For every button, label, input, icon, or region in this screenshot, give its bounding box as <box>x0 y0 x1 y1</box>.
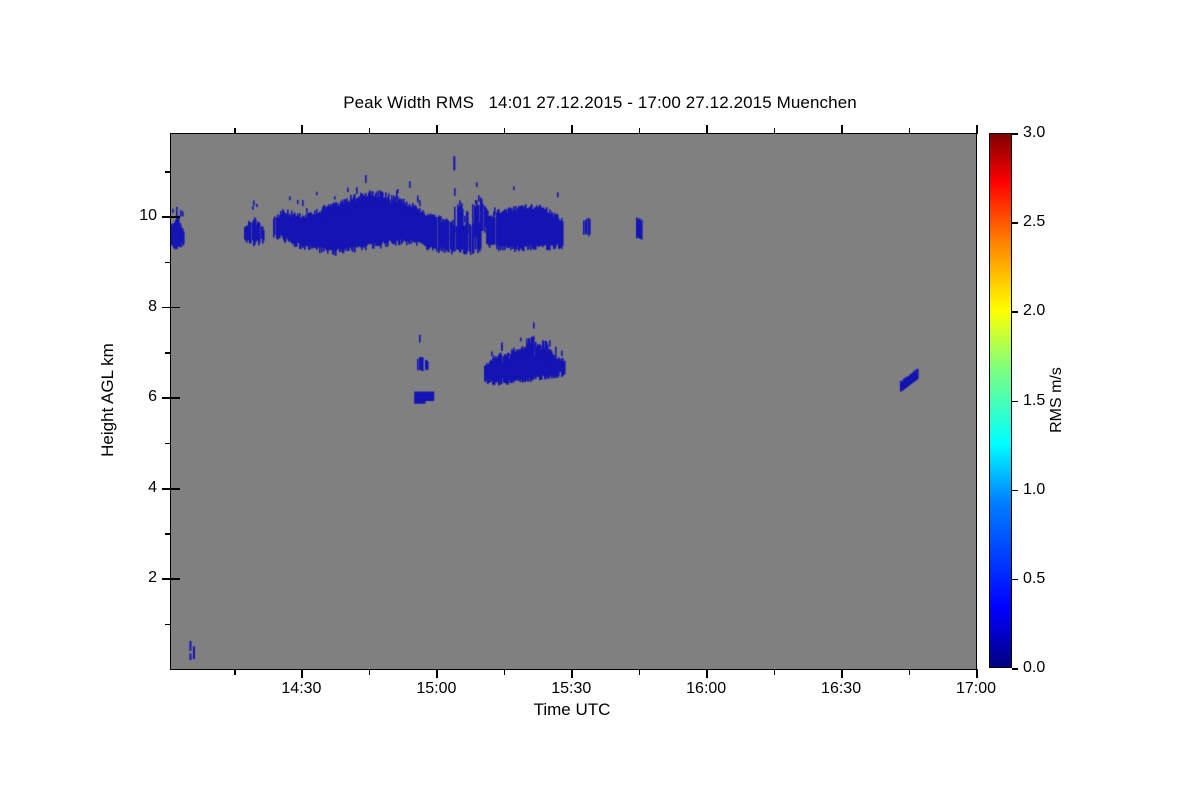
x-tick-minor-top <box>234 128 236 134</box>
colorbar-tick-label: 1.0 <box>1023 481 1045 499</box>
x-tick-minor <box>909 669 911 675</box>
page-title: Peak Width RMS 14:01 27.12.2015 - 17:00 … <box>0 93 1200 113</box>
x-tick-major <box>436 125 438 134</box>
x-tick-label: 17:00 <box>956 680 996 698</box>
colorbar-title: RMS m/s <box>1048 367 1066 433</box>
plot-area: 246810 14:3015:0015:3016:0016:3017:00 <box>170 133 977 670</box>
colorbar-tick-label: 2.0 <box>1023 302 1045 320</box>
y-tick-inner <box>171 578 180 580</box>
y-tick-major <box>162 216 171 218</box>
x-tick-major <box>301 125 303 134</box>
y-tick-minor <box>165 624 171 626</box>
colorbar-tick <box>1012 401 1018 403</box>
y-tick-inner <box>171 216 180 218</box>
y-tick-major <box>162 488 171 490</box>
x-tick-bottom <box>571 669 573 678</box>
x-tick-label: 15:30 <box>551 680 591 698</box>
x-tick-minor <box>504 669 506 675</box>
y-tick-inner <box>171 397 180 399</box>
x-tick-minor-top <box>369 128 371 134</box>
y-tick-inner <box>171 307 180 309</box>
x-tick-label: 15:00 <box>416 680 456 698</box>
x-tick-minor-top <box>504 128 506 134</box>
colorbar-tick <box>1012 311 1018 313</box>
colorbar-tick <box>1012 133 1018 135</box>
x-tick-bottom <box>706 669 708 678</box>
y-tick-label: 8 <box>148 298 157 316</box>
y-tick-minor <box>165 443 171 445</box>
y-tick-minor <box>165 533 171 535</box>
y-tick-label: 4 <box>148 479 157 497</box>
colorbar-tick-label: 3.0 <box>1023 124 1045 142</box>
colorbar-tick-label: 1.5 <box>1023 392 1045 410</box>
y-tick-minor <box>165 171 171 173</box>
colorbar-tick <box>1012 490 1018 492</box>
colorbar-tick <box>1012 668 1018 670</box>
x-tick-minor-top <box>909 128 911 134</box>
x-tick-bottom <box>436 669 438 678</box>
y-tick-label: 6 <box>148 388 157 406</box>
y-axis-title: Height AGL km <box>98 343 118 457</box>
y-tick-major <box>162 578 171 580</box>
x-tick-minor-top <box>774 128 776 134</box>
y-tick-inner <box>171 488 180 490</box>
x-tick-bottom <box>976 669 978 678</box>
x-tick-minor-top <box>639 128 641 134</box>
x-axis-title: Time UTC <box>534 700 611 720</box>
y-tick-label: 2 <box>148 569 157 587</box>
x-tick-label: 16:30 <box>821 680 861 698</box>
x-tick-label: 14:30 <box>281 680 321 698</box>
x-tick-minor <box>234 669 236 675</box>
y-tick-minor <box>165 262 171 264</box>
y-tick-label: 10 <box>139 207 157 225</box>
y-tick-minor <box>165 352 171 354</box>
x-tick-major <box>706 125 708 134</box>
x-tick-major <box>976 125 978 134</box>
colorbar-tick <box>1012 579 1018 581</box>
figure-canvas: Peak Width RMS 14:01 27.12.2015 - 17:00 … <box>0 0 1200 800</box>
x-tick-major <box>841 125 843 134</box>
heatmap-data-layer <box>171 134 976 669</box>
y-tick-major <box>162 397 171 399</box>
x-tick-bottom <box>841 669 843 678</box>
x-tick-bottom <box>301 669 303 678</box>
x-tick-minor <box>369 669 371 675</box>
colorbar-tick-label: 2.5 <box>1023 213 1045 231</box>
colorbar-tick <box>1012 222 1018 224</box>
x-tick-minor <box>639 669 641 675</box>
colorbar: 0.00.51.01.52.02.53.0 <box>989 133 1012 668</box>
y-tick-major <box>162 307 171 309</box>
colorbar-gradient <box>989 133 1012 668</box>
x-tick-minor <box>774 669 776 675</box>
colorbar-tick-label: 0.5 <box>1023 570 1045 588</box>
colorbar-tick-label: 0.0 <box>1023 659 1045 677</box>
x-tick-label: 16:00 <box>686 680 726 698</box>
x-tick-major <box>571 125 573 134</box>
